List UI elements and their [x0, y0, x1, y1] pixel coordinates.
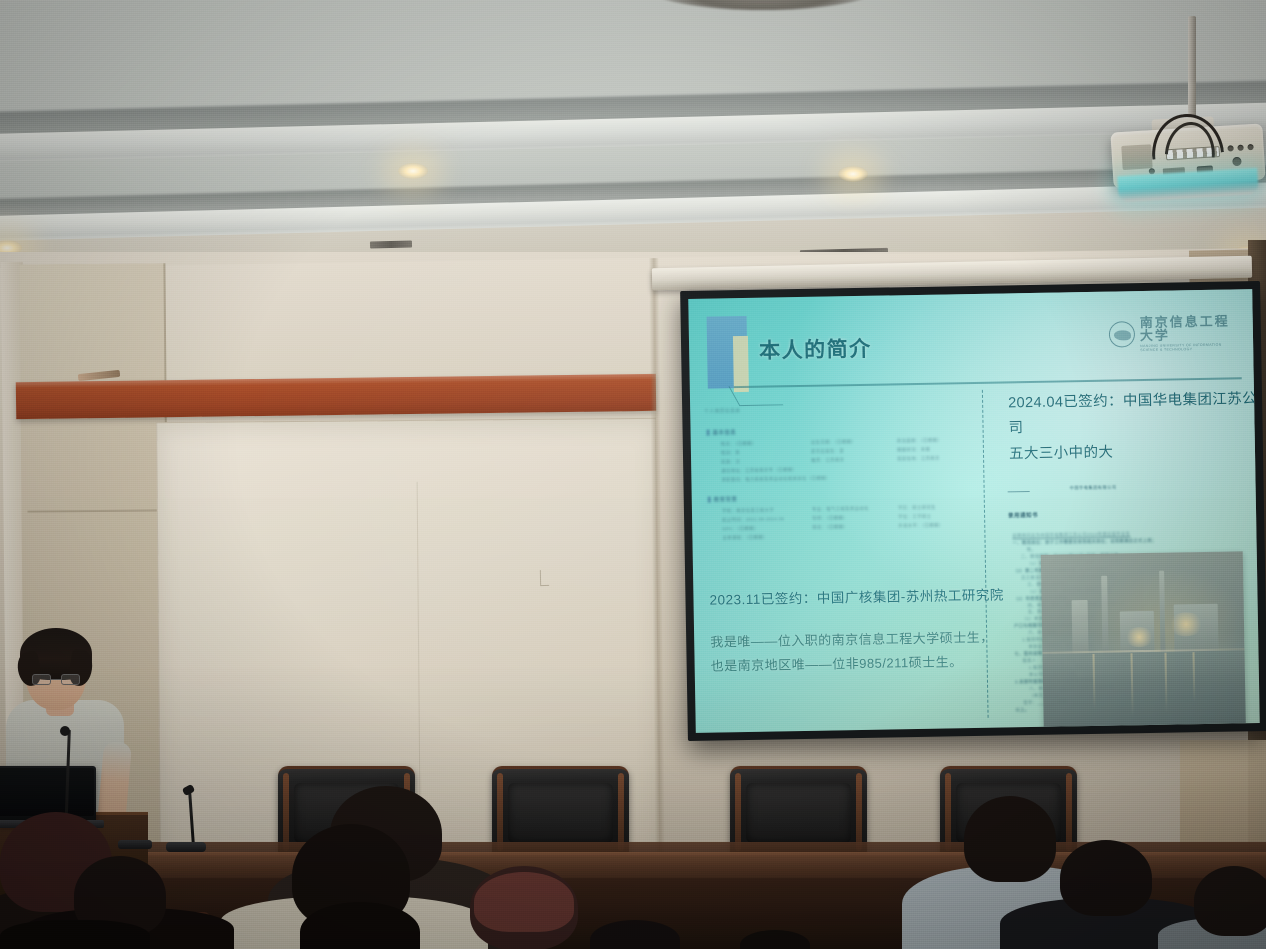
slide-title: 本人的简介 — [759, 333, 872, 365]
university-name-en: NANJING UNIVERSITY OF INFORMATION SCIENC… — [1140, 343, 1239, 352]
annotation-unique-line2: 也是南京地区唯——位非985/211硕士生。 — [710, 650, 994, 679]
resume-field: 排名：（已模糊） — [812, 523, 892, 530]
recessed-downlight — [838, 166, 868, 182]
resume-section-heading: 基本信息 — [707, 424, 973, 437]
ceiling-vent — [370, 240, 412, 248]
water-reflection — [1042, 650, 1245, 731]
resume-field: 籍贯：江苏南京 — [811, 456, 891, 463]
whiteboard-mark — [540, 570, 549, 586]
offer-company-note: 中国华电集团有限公司 — [1070, 485, 1117, 492]
microphone-base — [166, 842, 206, 852]
resume-field-wide: 求职意向：电力系统及其自动化相关岗位（已模糊） — [721, 473, 973, 483]
resume-field-wide: 主修课程：（已模糊） — [722, 531, 974, 541]
offer-rule — [1008, 491, 1030, 493]
audience-cap — [474, 872, 574, 932]
resume-field-grid: 学校：南京信息工程大学 专业：电气工程及其自动化 学历：硕士研究生 起止时间：2… — [722, 504, 975, 541]
recessed-downlight — [398, 163, 428, 179]
offer-headline-line2: 五大三小中的大 — [1009, 438, 1259, 468]
resume-field: 外语水平：（已模糊） — [898, 522, 974, 529]
resume-field: 学校：南京信息工程大学 — [722, 507, 806, 514]
presentation-slide: 本人的简介 南京信息工程大学 NANJING UNIVERSITY OF INF… — [688, 289, 1259, 733]
slide-title-notch — [728, 385, 783, 406]
resume-field: 学位：工学硕士 — [898, 513, 974, 520]
projection-screen-surface: 本人的简介 南京信息工程大学 NANJING UNIVERSITY OF INF… — [688, 289, 1259, 733]
projection-screen-frame: 本人的简介 南京信息工程大学 NANJING UNIVERSITY OF INF… — [680, 281, 1266, 741]
audience-head — [0, 920, 150, 949]
university-name-cn: 南京信息工程大学 — [1140, 314, 1239, 342]
presentation-room-photo: 本人的简介 南京信息工程大学 NANJING UNIVERSITY OF INF… — [0, 0, 1266, 949]
microphone-head — [60, 726, 70, 736]
projector-power-button[interactable] — [1232, 157, 1242, 167]
resume-field: 民族：汉 — [721, 458, 805, 465]
offer-headline: 2024.04已签约：中国华电集团江苏公司 五大三小中的大 — [1008, 387, 1259, 467]
audience-head — [1060, 840, 1152, 916]
resume-document: 个人简历信息表 基本信息 姓名：（已模糊） 出生日期：（已模糊） 政治面貌：（已… — [704, 404, 974, 554]
resume-field-grid: 姓名：（已模糊） 出生日期：（已模糊） 政治面貌：（已模糊） 性别：男 是否应届… — [721, 437, 974, 483]
presenter-glasses — [32, 674, 80, 685]
power-plant-photo — [1041, 551, 1246, 730]
projector-indicator-dot — [1247, 144, 1253, 150]
projector-indicator-dot — [1227, 145, 1233, 151]
resume-field: 专业：电气工程及其自动化 — [812, 505, 892, 512]
projector-vent — [1121, 144, 1152, 170]
resume-field: 婚姻状况：未婚 — [897, 446, 973, 453]
annotation-unique-note: 我是唯——位入职的南京信息工程大学硕士生， 也是南京地区唯——位非985/211… — [710, 626, 994, 679]
resume-field: 导师：（已模糊） — [812, 514, 892, 521]
projector-indicator-dot — [1237, 145, 1243, 151]
resume-field: 政治面貌：（已模糊） — [897, 437, 973, 444]
offer-subtitle: 录用通知书 — [1008, 511, 1038, 520]
offer-headline-line1: 2024.04已签约：中国华电集团江苏公司 — [1008, 387, 1259, 442]
university-emblem-icon — [1109, 321, 1135, 347]
resume-field: GPA：（已模糊） — [722, 525, 806, 532]
resume-field: 起止时间：2021.09-2024.06 — [722, 516, 806, 523]
resume-field: 是否应届生：是 — [811, 447, 891, 454]
audience-head — [1194, 866, 1266, 936]
slide-title-underline — [734, 377, 1242, 387]
microphone-base — [118, 840, 152, 849]
slide-decoration-cream-block — [733, 336, 749, 392]
university-logo: 南京信息工程大学 NANJING UNIVERSITY OF INFORMATI… — [1109, 315, 1240, 351]
annotation-signed-2023: 2023.11已签约：中国广核集团-苏州热工研究院 — [709, 583, 1004, 608]
resume-field: 出生日期：（已模糊） — [811, 438, 891, 445]
resume-field: 姓名：（已模糊） — [721, 440, 805, 447]
resume-section-heading: 教育背景 — [708, 491, 974, 504]
resume-field: 现居住地：江苏南京 — [897, 455, 973, 462]
resume-field: 学历：硕士研究生 — [898, 504, 974, 511]
audience-head — [964, 796, 1056, 882]
university-logo-text: 南京信息工程大学 NANJING UNIVERSITY OF INFORMATI… — [1140, 314, 1240, 352]
resume-field: 性别：男 — [721, 449, 805, 456]
